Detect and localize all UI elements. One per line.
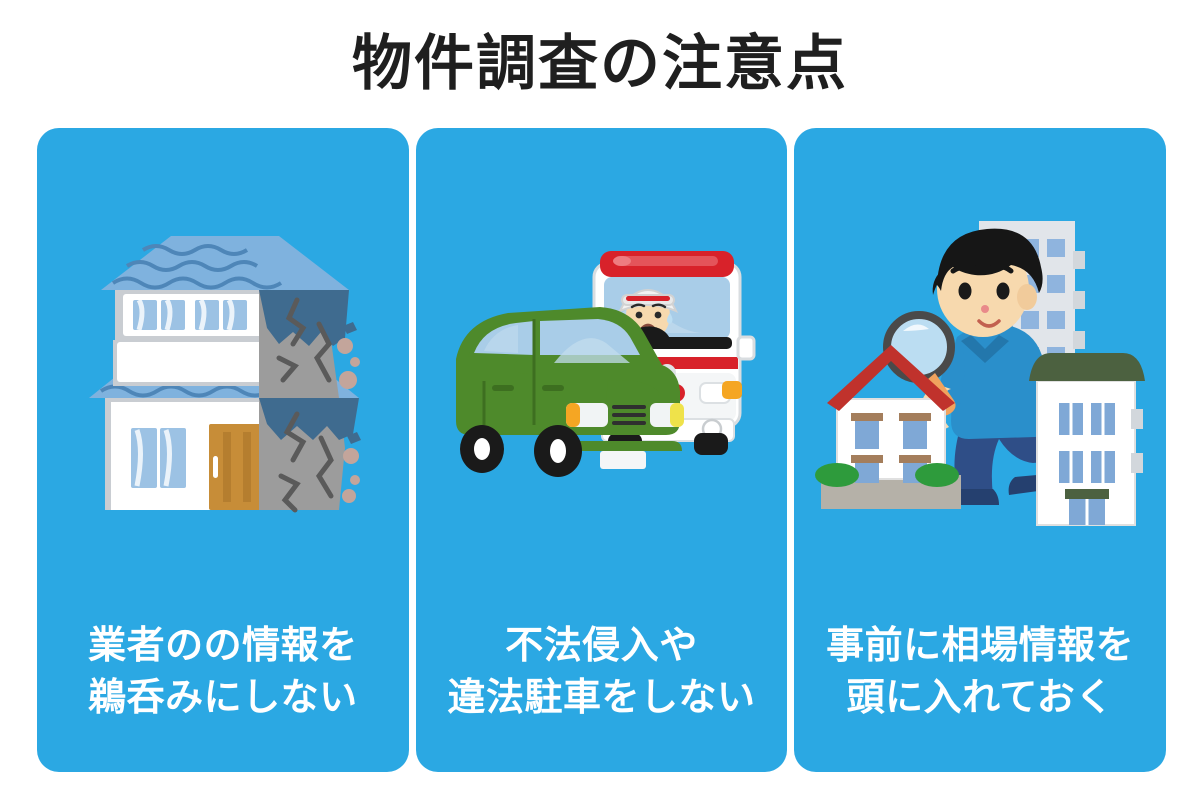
car-blocking-fire-truck-illustration (442, 233, 762, 513)
card-1-caption-line-1: 業者のの情報を (37, 620, 409, 672)
card-illegal-parking[interactable]: 不法侵入や 違法駐車をしない (416, 128, 788, 772)
card-3-caption: 事前に相場情報を 頭に入れておく (794, 620, 1166, 724)
card-2-caption: 不法侵入や 違法駐車をしない (416, 620, 788, 724)
card-2-caption-line-2: 違法駐車をしない (416, 672, 788, 724)
card-3-caption-line-2: 頭に入れておく (794, 672, 1166, 724)
card-market-research[interactable]: 事前に相場情報を 頭に入れておく (794, 128, 1166, 772)
man-inspecting-properties-with-magnifier-illustration (815, 213, 1145, 533)
page-title: 物件調査の注意点 (0, 28, 1200, 100)
card-1-caption: 業者のの情報を 鵜呑みにしない (37, 620, 409, 724)
card-1-caption-line-2: 鵜呑みにしない (37, 672, 409, 724)
card-3-illustration-area (794, 128, 1166, 618)
card-1-illustration-area (37, 128, 409, 618)
cracked-damaged-house-illustration (83, 228, 363, 518)
poster-root: 物件調査の注意点 (0, 0, 1200, 800)
cards-row: 業者のの情報を 鵜呑みにしない (37, 128, 1166, 772)
card-2-caption-line-1: 不法侵入や (416, 620, 788, 672)
card-2-illustration-area (416, 128, 788, 618)
card-cracked-house[interactable]: 業者のの情報を 鵜呑みにしない (37, 128, 409, 772)
card-3-caption-line-1: 事前に相場情報を (794, 620, 1166, 672)
